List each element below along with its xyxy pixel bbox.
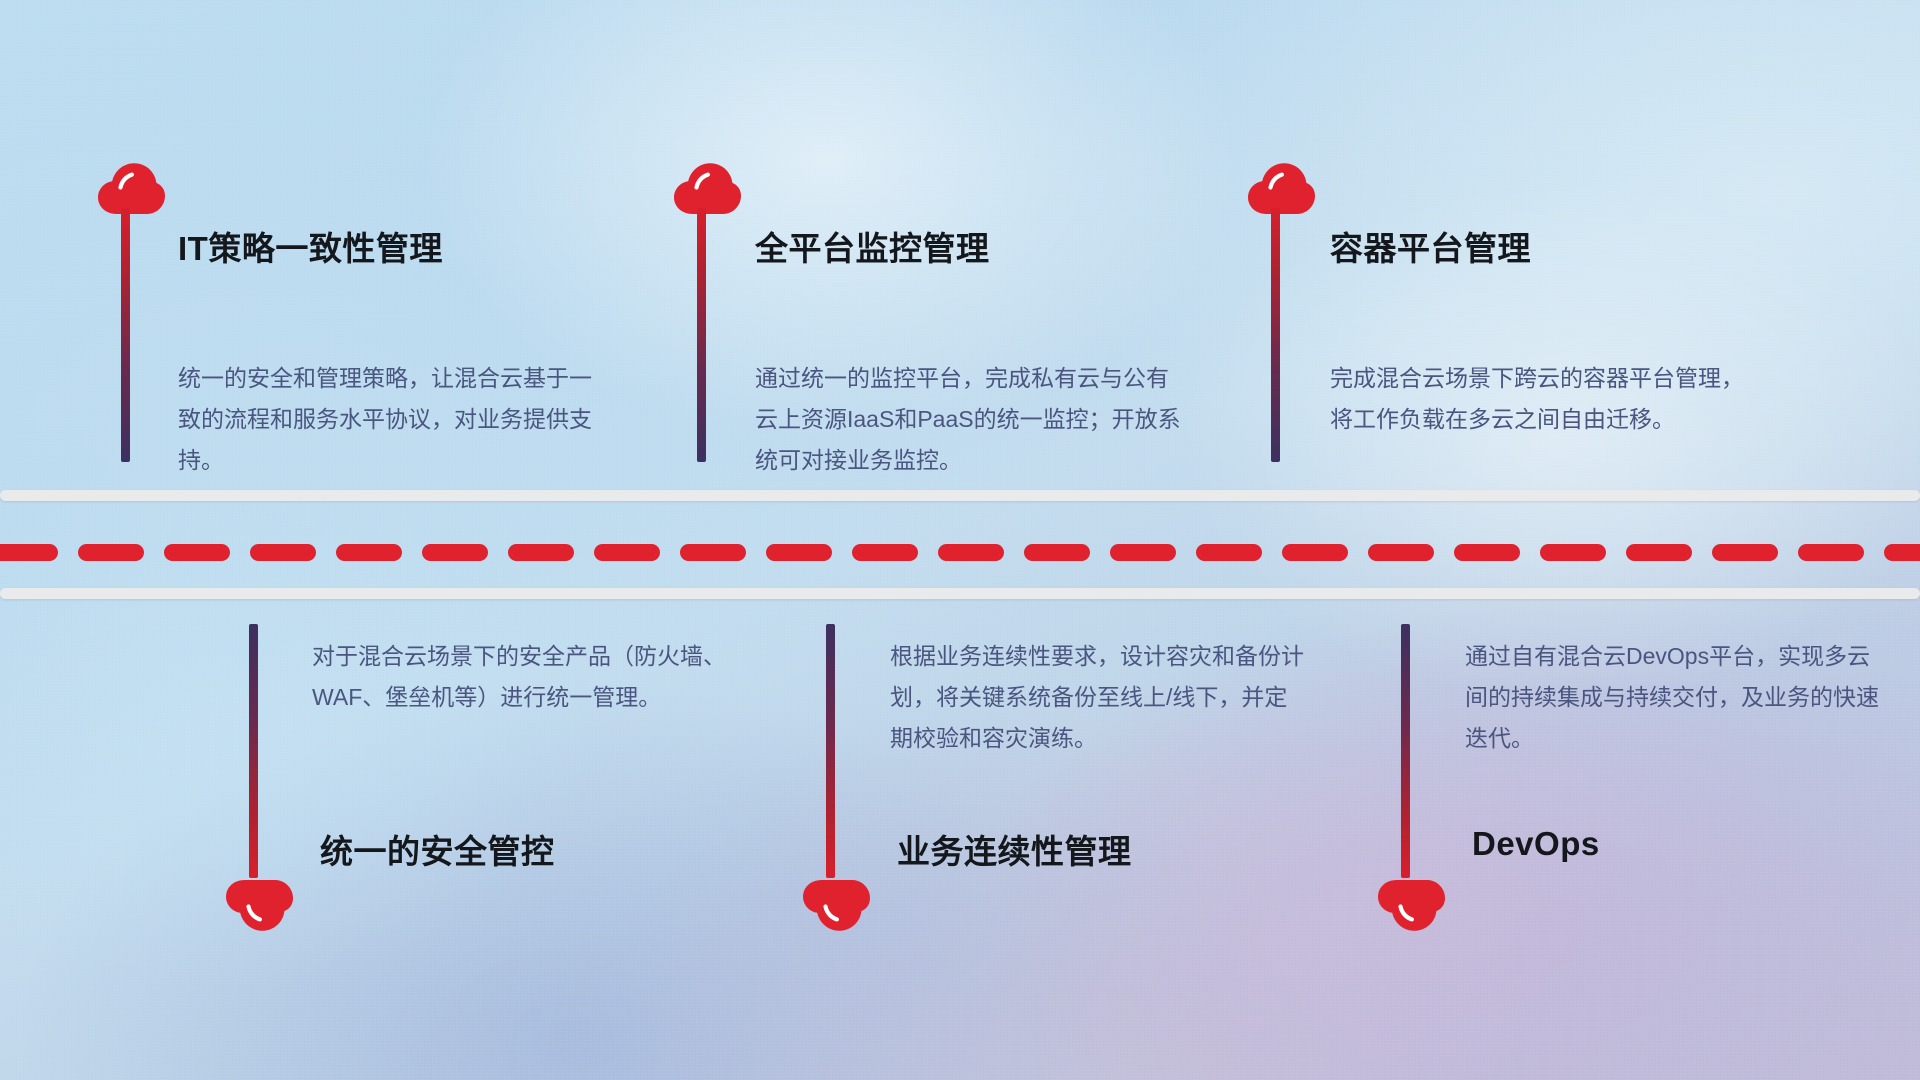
card-body: 通过统一的监控平台，完成私有云与公有云上资源IaaS和PaaS的统一监控；开放系… [755,358,1185,481]
road-dash [508,544,574,561]
timeline-pole [697,208,706,462]
road-edge-bottom [0,588,1920,599]
timeline-pole [826,624,835,878]
road-dash [1626,544,1692,561]
infographic-canvas: IT策略一致性管理 统一的安全和管理策略，让混合云基于一致的流程和服务水平协议，… [0,0,1920,1080]
card-title: 容器平台管理 [1330,222,1531,270]
background-bloom [1180,180,1920,700]
road-center-dashes [0,544,1920,561]
card-title: DevOps [1472,825,1600,863]
cloud-icon [1376,878,1446,934]
cloud-icon [801,878,871,934]
cloud-icon [1246,160,1316,216]
cloud-icon [224,878,294,934]
timeline-pole [1401,624,1410,878]
road-dash [1282,544,1348,561]
card-body: 根据业务连续性要求，设计容灾和备份计划，将关键系统备份至线上/线下，并定期校验和… [890,636,1310,759]
road-dash [680,544,746,561]
road-dash [164,544,230,561]
road-dash [1368,544,1434,561]
road-dash [1884,544,1920,561]
road-dash [1712,544,1778,561]
road-dash [250,544,316,561]
road-dash [766,544,832,561]
card-body: 完成混合云场景下跨云的容器平台管理，将工作负载在多云之间自由迁移。 [1330,358,1755,440]
road-dash [422,544,488,561]
cloud-icon [672,160,742,216]
card-body: 统一的安全和管理策略，让混合云基于一致的流程和服务水平协议，对业务提供支持。 [178,358,598,481]
road-dash [852,544,918,561]
road-dash [1454,544,1520,561]
road-dash [1196,544,1262,561]
road-dash [938,544,1004,561]
road-dash [594,544,660,561]
card-title: 全平台监控管理 [755,222,990,270]
timeline-pole [121,208,130,462]
road-dash [1024,544,1090,561]
road-dash [1110,544,1176,561]
road-dash [336,544,402,561]
road-dash [0,544,58,561]
cloud-icon [96,160,166,216]
timeline-pole [1271,208,1280,462]
card-title: 统一的安全管控 [320,825,555,873]
card-title: IT策略一致性管理 [178,222,443,270]
card-title: 业务连续性管理 [897,825,1132,873]
road-edge-top [0,490,1920,501]
card-body: 对于混合云场景下的安全产品（防火墙、WAF、堡垒机等）进行统一管理。 [312,636,732,718]
road-dash [1540,544,1606,561]
timeline-pole [249,624,258,878]
card-body: 通过自有混合云DevOps平台，实现多云间的持续集成与持续交付，及业务的快速迭代… [1465,636,1885,759]
road-dash [78,544,144,561]
road-dash [1798,544,1864,561]
